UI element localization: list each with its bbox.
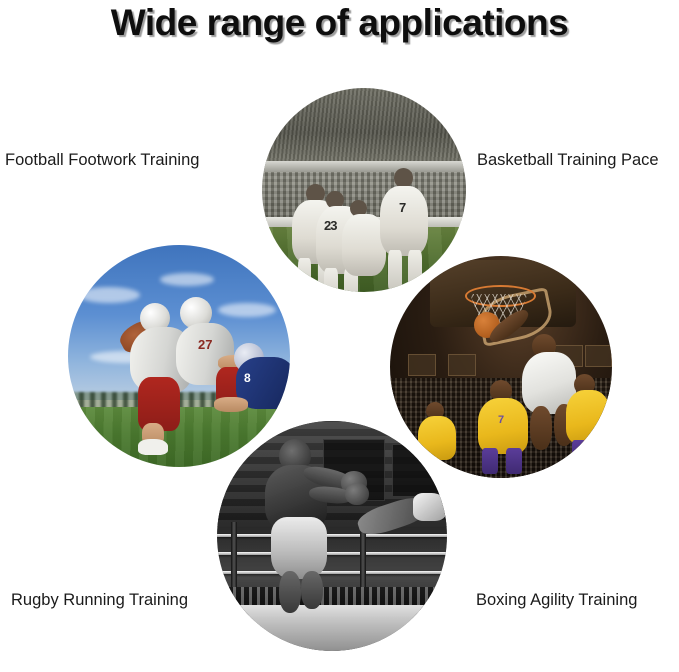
stadium-roofline [262,161,466,171]
label-football-footwork-training: Football Footwork Training [5,150,199,170]
shoe [138,439,168,455]
ring-rope [217,534,447,537]
jersey-number: 7 [399,200,405,215]
stadium-upper-stand [262,88,466,170]
boxing-glove [345,483,369,505]
player-legs [298,258,311,292]
label-basketball-training-pace: Basketball Training Pace [477,150,659,170]
photo-circle-boxing [217,421,447,651]
jersey-yellow [566,390,610,444]
boxing-trunks [271,517,327,579]
cloud [160,273,214,286]
player-legs [324,268,338,292]
jersey-number: 7 [498,414,504,426]
ring-canvas [217,605,447,651]
boxing-boot [413,493,447,521]
jersey-number: 23 [324,218,336,233]
arena-banner [448,354,477,376]
jersey-number: 27 [198,337,212,352]
shorts-purple [506,448,522,474]
jersey-number: 8 [244,371,251,385]
wall-panel [392,444,440,497]
jersey-yellow [478,398,528,454]
boxer-leg [301,571,323,609]
player-head [394,168,413,188]
ring-post [231,522,237,591]
arm [214,397,248,412]
ring-rope [217,571,447,574]
label-rugby-running-training: Rugby Running Training [11,590,188,610]
red-pants [138,377,180,431]
label-boxing-agility-training: Boxing Agility Training [476,590,637,610]
shorts-purple [482,448,498,474]
cloud [218,303,276,317]
boxing-scene [217,421,447,651]
arena-banner [585,345,611,367]
boxer-leg [279,571,301,613]
page-title: Wide range of applications [0,2,679,44]
leg [530,406,552,450]
cloud [78,287,140,303]
player-body [380,186,428,256]
shorts-purple [572,440,586,464]
arena-banner [408,354,437,376]
ring-rope [217,552,447,555]
